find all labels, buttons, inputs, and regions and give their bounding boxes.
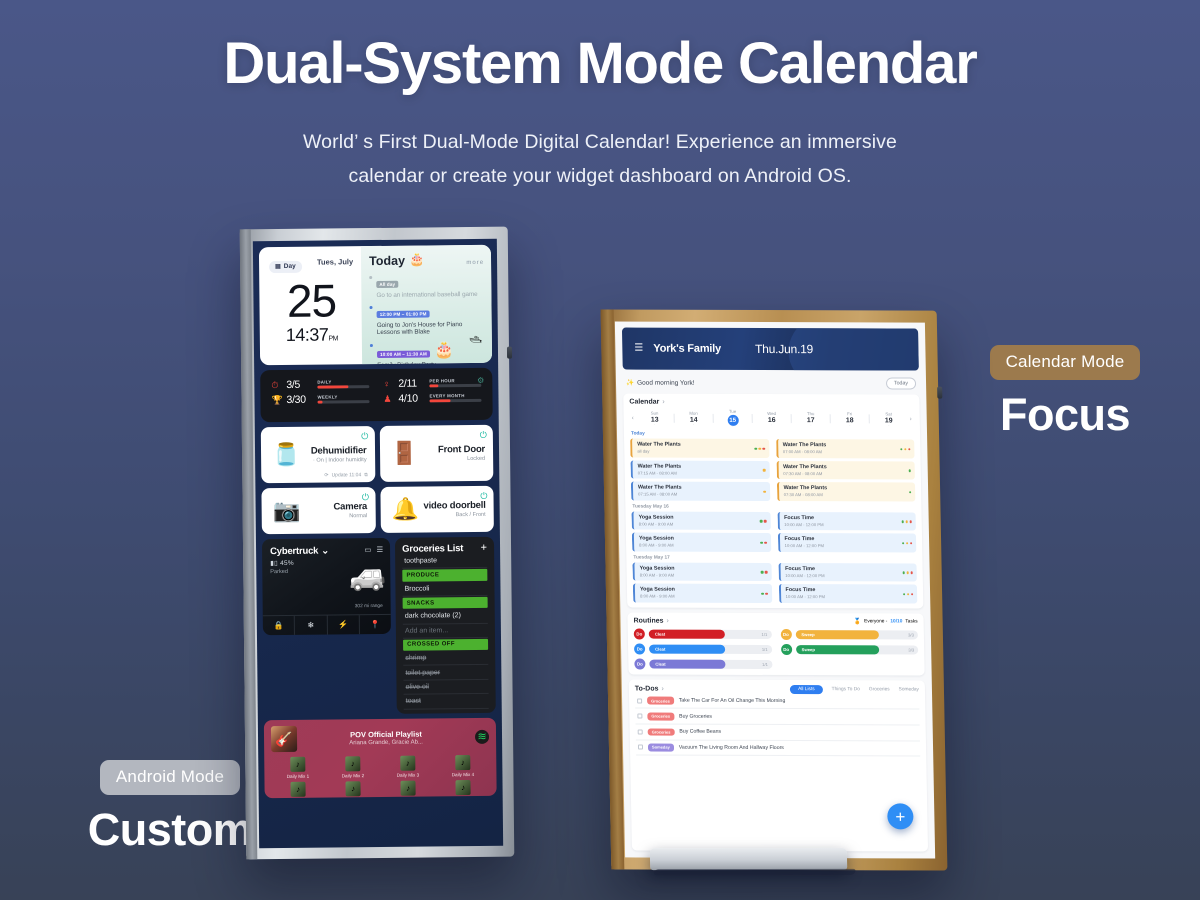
calendar-event-time: 10:00 AM - 12:00 PM xyxy=(785,573,824,578)
progress-track xyxy=(317,385,369,388)
todo-checkbox[interactable] xyxy=(638,729,643,734)
habit-row[interactable]: ♟4/10EVERY MONTH xyxy=(383,392,481,405)
habit-progress: WEEKLY xyxy=(317,395,369,403)
car-control-3[interactable]: 📍 xyxy=(360,615,391,634)
cake-icon: 🎂 xyxy=(409,252,425,267)
mix-tile[interactable]: ♪Discover W... xyxy=(326,780,379,798)
event-title: Family Birthday Party xyxy=(377,360,485,365)
today-event[interactable]: 10:00 AM – 11:30 AM 🎂Family Birthday Par… xyxy=(370,339,485,365)
progress-fill xyxy=(429,385,438,388)
calendar-event-time: 10:00 AM - 12:00 PM xyxy=(786,594,825,599)
habit-row[interactable]: ♀2/11PER HOUR xyxy=(383,377,481,390)
calendar-event-row[interactable]: Water The Plants07:15 AM - 08:00 AM xyxy=(631,482,770,501)
todo-checkbox[interactable] xyxy=(638,745,643,750)
track-meta: POV Official Playlist Ariana Grande, Gra… xyxy=(303,729,469,747)
car-battery-value: 45% xyxy=(280,560,294,567)
subtitle-line-2: calendar or create your widget dashboard… xyxy=(348,165,851,187)
calendar-event-text: Yoga Session8:00 AM - 9:00 AM xyxy=(640,565,675,577)
device-image-icon: 🔔 xyxy=(387,492,423,528)
grocery-item[interactable]: Broccoli xyxy=(403,581,488,596)
calendar-event-dots xyxy=(908,469,911,472)
todos-title[interactable]: To-Dos › xyxy=(635,685,664,692)
date-time-panel: ▤ Day Tues, July 25 14:37PM xyxy=(259,246,362,365)
grocery-item[interactable]: toothpaste xyxy=(402,554,487,569)
routine-count: 1/1 xyxy=(762,647,768,652)
grocery-section[interactable]: CROSSED OFF xyxy=(403,639,488,651)
calendar-event-grid: Yoga Session8:00 AM - 9:00 AMFocus Time1… xyxy=(632,562,917,603)
calendar-event-row[interactable]: Focus Time10:00 AM - 12:00 PM xyxy=(777,512,916,531)
event-dot xyxy=(910,571,913,574)
week-day-dot: · xyxy=(675,424,713,427)
week-day-sat[interactable]: Sat19· xyxy=(870,411,908,427)
day-chip-label: Day xyxy=(284,263,296,270)
calendar-event-dots xyxy=(909,491,912,494)
routine-row[interactable]: DoCleat1/1 xyxy=(634,628,772,639)
routine-avatar: Do xyxy=(634,628,645,639)
smart-home-card[interactable]: ⏻🔔video doorbellBack / Front xyxy=(380,486,494,533)
habit-icon: ⏱ xyxy=(271,379,281,390)
event-dot xyxy=(903,593,906,596)
grocery-item[interactable]: toast xyxy=(404,694,489,709)
todo-text: Take The Car For An Oil Change This Morn… xyxy=(679,698,786,704)
progress-fill xyxy=(318,401,323,404)
calendar-event-row[interactable]: Water The Plants07:15 AM - 08:00 AM xyxy=(630,460,769,479)
android-tablet-frame: ▤ Day Tues, July 25 14:37PM Today 🎂 more… xyxy=(240,227,515,860)
event-dot xyxy=(910,542,913,545)
mix-artwork: ♪ xyxy=(345,756,360,771)
todo-checkbox[interactable] xyxy=(637,714,642,719)
todo-item[interactable]: GroceriesBuy Groceries xyxy=(635,709,919,726)
music-widget[interactable]: 🎸 POV Official Playlist Ariana Grande, G… xyxy=(264,718,497,798)
calendar-section-label: Tuesday May 17 xyxy=(633,555,916,561)
week-day-name: Sun xyxy=(636,411,674,416)
calendar-sections: TodayWater The Plantsall dayWater The Pl… xyxy=(630,432,917,603)
mix-artwork: ♪ xyxy=(345,781,360,796)
habit-value: 2/11 xyxy=(398,377,424,389)
routine-label: Cleat xyxy=(655,646,665,651)
routine-row[interactable]: DoSweep3/3 xyxy=(781,644,919,655)
event-dot xyxy=(905,520,908,523)
calendar-event-row[interactable]: Focus Time10:00 AM - 12:00 PM xyxy=(778,563,917,582)
clock-time: 14:37 xyxy=(286,325,329,345)
event-dot xyxy=(902,542,905,545)
calendar-hero-header: ☰ York's Family Thu.Jun.19 xyxy=(622,328,919,371)
calendar-event-row[interactable]: Water The Plantsall day xyxy=(630,439,769,458)
calendar-event-dots xyxy=(902,571,913,574)
calendar-event-text: Water The Plants07:15 AM - 08:00 AM xyxy=(638,485,682,497)
calendar-event-dots xyxy=(903,593,914,596)
car-control-0[interactable]: 🔒 xyxy=(263,616,295,635)
routines-card: Routines › 🏅 Everyone - 10/10 Tasks DoCl… xyxy=(627,612,924,675)
mix-label: Discover W... xyxy=(327,797,380,798)
week-day-name: Wed xyxy=(753,411,791,416)
mix-label: Daily Mix 3 xyxy=(381,772,434,778)
todo-tab[interactable]: Groceries xyxy=(869,687,890,692)
day-view-chip[interactable]: ▤ Day xyxy=(269,260,302,272)
calendar-event-text: Focus Time10:00 AM - 12:00 PM xyxy=(785,587,825,599)
today-event[interactable]: All dayGo to an international baseball g… xyxy=(369,271,484,298)
device-status: Normal xyxy=(305,513,368,520)
week-day-dot: · xyxy=(792,424,830,427)
share-icon[interactable]: ⧉ xyxy=(364,472,368,478)
calendar-mode-badge: Calendar Mode xyxy=(990,345,1141,380)
today-header-label: Today xyxy=(369,253,405,267)
album-art: 🎸 xyxy=(271,726,297,752)
event-dot xyxy=(762,447,765,450)
device-footer: ⟳Update 11:04⧉ xyxy=(324,472,367,478)
grocery-section[interactable]: SNACKS xyxy=(403,597,488,609)
routine-count: 1/1 xyxy=(762,662,768,667)
calendar-event-name: Yoga Session xyxy=(639,514,674,520)
todos-title-label: To-Dos xyxy=(635,685,659,692)
android-screen: ▤ Day Tues, July 25 14:37PM Today 🎂 more… xyxy=(253,239,503,849)
event-dot xyxy=(760,541,763,544)
calendar-event-name: Focus Time xyxy=(784,515,823,521)
week-day-tue[interactable]: Tue15· xyxy=(714,409,752,429)
car-widget[interactable]: Cybertruck ⌄ ▭ ☰ ▮▯ 45% Parked 🚙 302 mi … xyxy=(262,538,391,635)
add-grocery-button[interactable]: + xyxy=(481,543,488,554)
calendar-event-row[interactable]: Water The Plants07:30 AM - 08:00 AM xyxy=(776,461,915,480)
mix-label: Daily Mix 4 xyxy=(436,771,489,777)
habit-caption: PER HOUR xyxy=(429,378,455,383)
calendar-event-name: Focus Time xyxy=(785,587,824,593)
event-dot xyxy=(761,571,764,574)
routines-meta: 🏅 Everyone - 10/10 Tasks xyxy=(854,618,918,625)
grocery-item[interactable]: dark chocolate (2) xyxy=(403,609,488,624)
device-status: Locked xyxy=(423,456,486,463)
calendar-event-name: Focus Time xyxy=(785,566,824,572)
event-dot xyxy=(909,491,912,494)
car-controls-bar: 🔒❄⚡📍 xyxy=(263,614,391,635)
routine-avatar: Do xyxy=(780,629,791,640)
car-groceries-row: Cybertruck ⌄ ▭ ☰ ▮▯ 45% Parked 🚙 302 mi … xyxy=(262,537,496,715)
habit-row[interactable]: 🏆3/30WEEKLY xyxy=(271,393,369,406)
menu-icon[interactable]: ☰ xyxy=(376,545,383,554)
calendar-event-time: 10:00 AM - 12:00 PM xyxy=(785,543,824,548)
mix-tile[interactable]: ♪JOHNE Rad... xyxy=(436,779,489,798)
device-text: Front DoorLocked xyxy=(422,444,486,463)
calendar-event-row[interactable]: Water The Plants07:00 AM - 08:00 AM xyxy=(776,439,915,458)
power-toggle-icon[interactable]: ⏻ xyxy=(362,492,369,503)
page-subtitle: World’ s First Dual-Mode Digital Calenda… xyxy=(0,125,1200,193)
today-event[interactable]: 12:00 PM – 01:00 PMGoing to Jon's House … xyxy=(370,302,485,336)
family-name: York's Family xyxy=(653,343,721,355)
event-dot xyxy=(906,542,909,545)
smart-home-grid: ⏻🫙Dehumidifier· On | Indoor humidity⟳Upd… xyxy=(261,425,494,534)
chevron-right-icon: › xyxy=(661,685,663,692)
calendar-event-row[interactable]: Yoga Session8:00 AM - 9:00 AM xyxy=(631,511,770,530)
cake-icon: 🎂 xyxy=(430,342,455,359)
routine-row[interactable]: DoCleat1/1 xyxy=(634,658,772,669)
chevron-right-icon: › xyxy=(662,399,664,406)
calendar-event-dots xyxy=(761,592,768,595)
mix-tile[interactable]: ♪Daily Mix 4 xyxy=(436,755,489,777)
routines-title[interactable]: Routines › xyxy=(634,617,669,624)
todo-tab[interactable]: All Lists xyxy=(790,685,823,694)
calendar-event-row[interactable]: Water The Plants07:30 AM - 08:00 AM xyxy=(776,482,915,501)
calendar-card: Calendar › ‹ Sun13·Mon14·Tue15·Wed16·Thu… xyxy=(623,394,923,609)
week-day-dot: · xyxy=(870,424,908,427)
device-text: video doorbellBack / Front xyxy=(423,500,487,519)
mix-artwork: ♪ xyxy=(400,756,415,771)
week-day-fri[interactable]: Fri18· xyxy=(831,411,869,427)
smart-home-card[interactable]: ⏻🚪Front DoorLocked xyxy=(379,425,493,482)
calendar-event-row[interactable]: Yoga Session8:00 AM - 9:00 AM xyxy=(633,584,772,603)
calendar-event-time: 8:00 AM - 9:00 AM xyxy=(640,594,675,599)
calendar-event-text: Yoga Session8:00 AM - 9:00 AM xyxy=(640,587,675,599)
week-day-name: Fri xyxy=(831,411,869,416)
todo-checkbox[interactable] xyxy=(637,698,642,703)
routines-meta-suffix: Tasks xyxy=(905,619,917,624)
mix-artwork: ♪ xyxy=(290,757,305,772)
todo-item[interactable]: GroceriesTake The Car For An Oil Change … xyxy=(635,693,919,710)
groceries-widget[interactable]: Groceries List + toothpastePRODUCEBrocco… xyxy=(395,537,496,714)
event-dot xyxy=(908,469,911,472)
chevron-down-icon[interactable]: ⌄ xyxy=(321,546,329,557)
power-toggle-icon[interactable]: ⏻ xyxy=(480,430,487,441)
mix-label: Daily Mix 5 xyxy=(272,798,325,799)
today-events-panel: Today 🎂 more All dayGo to an internation… xyxy=(361,245,492,364)
routine-count: 3/3 xyxy=(908,647,914,652)
device-status: Back / Front xyxy=(423,512,486,519)
calendar-event-name: Water The Plants xyxy=(783,485,827,491)
todo-tab[interactable]: Someday xyxy=(899,687,919,692)
spotify-icon[interactable]: ≋ xyxy=(475,730,489,744)
chevron-right-icon: › xyxy=(666,618,668,625)
calendar-event-dots xyxy=(754,447,765,450)
refresh-icon[interactable]: ⟳ xyxy=(324,473,328,479)
calendar-event-row[interactable]: Yoga Session8:00 AM - 9:00 AM xyxy=(632,533,771,552)
calendar-event-row[interactable]: Focus Time10:00 AM - 12:00 PM xyxy=(778,584,917,603)
calendar-event-dots xyxy=(763,469,766,472)
week-day-thu[interactable]: Thu17· xyxy=(792,411,830,427)
today-button[interactable]: Today xyxy=(886,377,916,389)
power-button[interactable] xyxy=(937,387,942,399)
mix-label: JOHNE Rad... xyxy=(437,796,490,798)
calendar-event-dots xyxy=(900,448,911,451)
grocery-section[interactable]: PRODUCE xyxy=(402,569,487,581)
mix-label: Daily Mix 1 xyxy=(271,773,324,779)
playlist-artists: Ariana Grande, Gracie Ab... xyxy=(303,739,469,747)
event-dot xyxy=(763,490,766,493)
car-control-1[interactable]: ❄ xyxy=(295,616,327,635)
event-dot xyxy=(907,593,910,596)
smart-home-card[interactable]: ⏻🫙Dehumidifier· On | Indoor humidity⟳Upd… xyxy=(261,426,375,483)
event-dot xyxy=(760,520,763,523)
mix-tile[interactable]: ♪Daily Mix 1 xyxy=(271,757,324,779)
event-time-tag: 12:00 PM – 01:00 PM xyxy=(377,310,430,318)
calendar-event-time: 07:00 AM - 08:00 AM xyxy=(783,449,827,454)
calendar-event-time: 07:15 AM - 08:00 AM xyxy=(638,470,682,475)
car-toolbar[interactable]: ▭ ☰ xyxy=(364,545,383,554)
todo-item[interactable]: GroceriesBuy Coffee Beans xyxy=(636,725,920,742)
power-toggle-icon[interactable]: ⏻ xyxy=(480,491,487,502)
tablet-stand xyxy=(650,848,847,870)
calendar-event-dots xyxy=(761,571,768,574)
calendar-event-name: Water The Plants xyxy=(638,463,682,469)
event-dot xyxy=(765,571,768,574)
event-dot xyxy=(761,592,764,595)
routine-fill: Cleat xyxy=(649,644,725,653)
today-widget[interactable]: ▤ Day Tues, July 25 14:37PM Today 🎂 more… xyxy=(259,245,492,365)
calendar-event-name: Water The Plants xyxy=(638,485,682,491)
message-icon[interactable]: ▭ xyxy=(364,545,371,554)
calendar-event-time: 10:00 AM - 12:00 PM xyxy=(784,522,823,527)
calendar-event-row[interactable]: Focus Time10:00 AM - 12:00 PM xyxy=(777,533,916,552)
grocery-item[interactable]: olive oil xyxy=(404,680,489,695)
habit-value: 3/30 xyxy=(286,394,312,406)
week-strip[interactable]: ‹ Sun13·Mon14·Tue15·Wed16·Thu17·Fri18·Sa… xyxy=(629,409,913,429)
mix-tile[interactable]: ♪Daily Mix 2 xyxy=(326,756,379,778)
event-title: Going to Jon's House for Piano Lessons w… xyxy=(377,321,485,336)
progress-fill xyxy=(317,386,348,389)
todo-list-chip: Groceries xyxy=(648,728,675,736)
calendar-event-dots xyxy=(901,520,912,523)
todo-item[interactable]: SomedayVacuum The Living Room And Hallwa… xyxy=(636,740,920,757)
calendar-tablet-frame: ☰ York's Family Thu.Jun.19 ✨ Good mornin… xyxy=(601,309,948,870)
week-day-name: Mon xyxy=(675,411,713,416)
event-dot xyxy=(900,448,903,451)
device-name: Front Door xyxy=(422,444,485,456)
calendar-event-text: Focus Time10:00 AM - 12:00 PM xyxy=(784,536,824,548)
calendar-event-text: Water The Plants07:00 AM - 08:00 AM xyxy=(783,442,827,454)
device-name: Dehumidifier xyxy=(304,445,367,457)
page-title: Dual-System Mode Calendar xyxy=(0,34,1200,95)
todos-list: GroceriesTake The Car For An Oil Change … xyxy=(635,693,920,756)
routine-avatar: Do xyxy=(634,658,645,669)
big-clock: 14:37PM xyxy=(270,324,354,346)
device-image-icon: 📷 xyxy=(268,493,304,529)
power-button[interactable] xyxy=(507,347,512,359)
next-week-icon[interactable]: › xyxy=(908,416,914,422)
android-mode-badge: Android Mode xyxy=(100,760,240,795)
device-update-time: Update 11:04 xyxy=(332,472,362,478)
routine-fill: Cleat xyxy=(649,659,725,668)
habit-icon: ♟ xyxy=(383,393,393,404)
mix-tile[interactable]: ♪Release Ra... xyxy=(381,780,434,798)
calendar-event-row[interactable]: Yoga Session8:00 AM - 9:00 AM xyxy=(632,562,771,581)
week-day-name: Thu xyxy=(792,411,830,416)
calendar-event-text: Water The Plants07:15 AM - 08:00 AM xyxy=(638,463,682,475)
today-more-link[interactable]: more xyxy=(466,260,484,266)
greeting-row: ✨ Good morning York! Today xyxy=(623,375,919,390)
hamburger-menu-icon[interactable]: ☰ xyxy=(634,344,643,354)
mix-artwork: ♪ xyxy=(290,781,305,796)
event-dot xyxy=(909,520,912,523)
event-dot xyxy=(904,448,907,451)
power-toggle-icon[interactable]: ⏻ xyxy=(361,431,368,442)
routine-row[interactable]: DoSweep3/3 xyxy=(780,629,918,640)
event-dot xyxy=(765,592,768,595)
routine-fill: Sweep xyxy=(795,630,878,639)
event-time-tag: All day xyxy=(376,280,398,287)
event-dot xyxy=(754,447,757,450)
routine-label: Cleat xyxy=(655,661,665,666)
routines-meta-prefix: Everyone - xyxy=(864,619,887,624)
habit-row[interactable]: ⏱3/5DAILY xyxy=(271,378,369,391)
todo-text: Vacuum The Living Room And Hallway Floor… xyxy=(679,745,784,751)
calendar-title-label: Calendar xyxy=(629,399,659,406)
habit-progress: DAILY xyxy=(317,380,369,388)
habit-tracker-widget[interactable]: ⚙ ⏱3/5DAILY♀2/11PER HOUR🏆3/30WEEKLY♟4/10… xyxy=(260,368,493,422)
calendar-event-text: Water The Plantsall day xyxy=(637,442,681,454)
habit-caption: EVERY MONTH xyxy=(429,393,464,398)
routines-meta-count: 10/10 xyxy=(890,619,902,624)
week-day-sun[interactable]: Sun13· xyxy=(636,411,674,427)
todo-list-chip: Groceries xyxy=(647,713,674,721)
hero-date: Thu.Jun.19 xyxy=(755,342,813,356)
week-day-name: Tue xyxy=(714,409,752,414)
today-date-label: Tues, July xyxy=(317,257,353,266)
boat-illustration-icon: 🛥 xyxy=(469,335,482,346)
mix-tile[interactable]: ♪Daily Mix 3 xyxy=(381,755,434,777)
routine-row[interactable]: DoCleat1/1 xyxy=(634,643,772,654)
calendar-card-title[interactable]: Calendar › xyxy=(629,399,913,407)
car-name: Cybertruck xyxy=(270,546,318,558)
groceries-list: toothpastePRODUCEBroccoliSNACKSdark choc… xyxy=(402,554,489,709)
routine-avatar: Do xyxy=(781,644,792,655)
device-text: CameraNormal xyxy=(305,501,369,520)
grocery-item[interactable]: shrimp xyxy=(403,651,488,666)
event-dot xyxy=(911,593,914,596)
routine-avatar: Do xyxy=(634,643,645,654)
car-control-2[interactable]: ⚡ xyxy=(327,615,359,634)
calendar-event-text: Focus Time10:00 AM - 12:00 PM xyxy=(784,515,824,527)
smart-home-card[interactable]: ⏻📷CameraNormal xyxy=(261,487,375,534)
mix-tile[interactable]: ♪Daily Mix 5 xyxy=(271,781,324,798)
routine-track: Sweep3/3 xyxy=(795,630,918,639)
groceries-header: Groceries List + xyxy=(402,543,487,555)
calendar-event-dots xyxy=(760,541,767,544)
add-todo-fab[interactable]: + xyxy=(887,803,914,829)
routine-label: Sweep xyxy=(801,632,814,637)
event-dot xyxy=(901,520,904,523)
routine-count: 3/3 xyxy=(908,632,914,637)
week-day-wed[interactable]: Wed16· xyxy=(753,411,791,427)
calendar-event-time: 07:15 AM - 08:00 AM xyxy=(638,492,682,497)
habit-icon: ♀ xyxy=(383,379,393,389)
routines-header: Routines › 🏅 Everyone - 10/10 Tasks xyxy=(634,617,918,625)
routine-fill: Sweep xyxy=(796,645,879,654)
calendar-event-time: 8:00 AM - 9:00 AM xyxy=(640,572,675,577)
calendar-screen: ☰ York's Family Thu.Jun.19 ✨ Good mornin… xyxy=(615,322,935,859)
grocery-item[interactable]: toilet paper xyxy=(403,665,488,680)
calendar-event-name: Yoga Session xyxy=(640,587,675,593)
device-status: · On | Indoor humidity xyxy=(304,457,367,464)
greeting-text: Good morning York! xyxy=(637,379,695,386)
event-dot xyxy=(758,447,761,450)
now-playing: 🎸 POV Official Playlist Ariana Grande, G… xyxy=(271,724,489,752)
mix-grid: ♪Daily Mix 1♪Daily Mix 2♪Daily Mix 3♪Dai… xyxy=(271,755,489,798)
calendar-event-name: Yoga Session xyxy=(639,536,674,542)
grocery-item[interactable]: Add an item... xyxy=(403,623,488,638)
routine-track: Cleat1/1 xyxy=(649,644,772,653)
routine-label: Sweep xyxy=(802,647,815,652)
trophy-icon: 🏅 xyxy=(854,618,862,625)
habit-value: 4/10 xyxy=(398,392,424,404)
groceries-title: Groceries List xyxy=(402,543,463,555)
week-day-name: Sat xyxy=(870,411,908,416)
routine-track: Sweep3/3 xyxy=(796,645,919,654)
event-title: Go to an international baseball game xyxy=(376,290,484,298)
calendar-event-time: 8:00 AM - 9:00 AM xyxy=(639,521,674,526)
big-day-number: 25 xyxy=(269,278,354,324)
habit-progress: PER HOUR xyxy=(429,379,481,387)
todo-tab[interactable]: Things To Do xyxy=(832,687,860,692)
calendar-mode-title: Focus xyxy=(940,389,1190,441)
week-day-mon[interactable]: Mon14· xyxy=(675,411,713,427)
calendar-section-label: Today xyxy=(631,432,914,438)
